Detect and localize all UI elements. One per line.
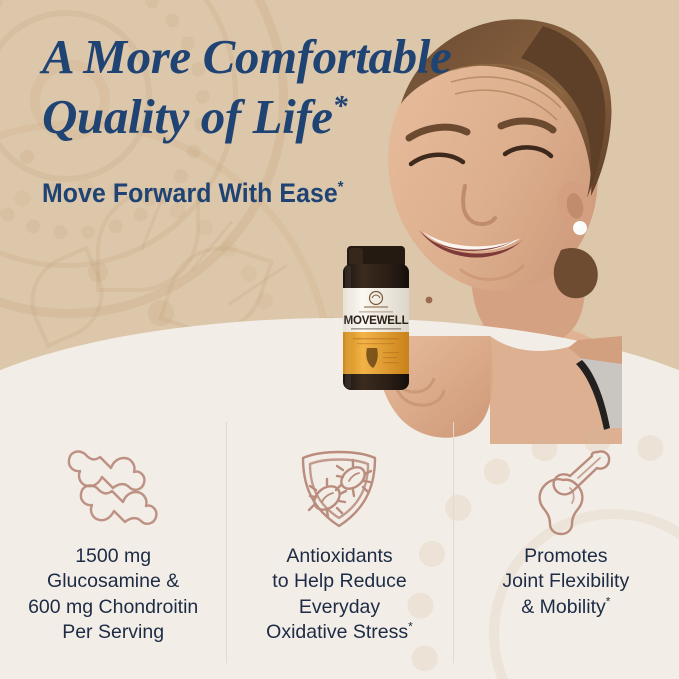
feature-line: Per Serving <box>28 620 198 645</box>
feature-asterisk: * <box>606 594 611 608</box>
headline-asterisk: * <box>333 90 348 123</box>
feature-column-glucosamine: 1500 mg Glucosamine & 600 mg Chondroitin… <box>0 418 226 679</box>
feature-line: Antioxidants <box>266 544 413 569</box>
hip-joint-icon <box>514 436 618 540</box>
subtitle: Move Forward With Ease* <box>42 178 344 209</box>
feature-line: Joint Flexibility <box>502 569 629 594</box>
feature-text-glucosamine: 1500 mg Glucosamine & 600 mg Chondroitin… <box>22 544 204 645</box>
feature-text-mobility: Promotes Joint Flexibility & Mobility* <box>496 544 635 620</box>
features-section: 1500 mg Glucosamine & 600 mg Chondroitin… <box>0 418 679 679</box>
feature-line: 1500 mg <box>28 544 198 569</box>
feature-line: Everyday <box>266 595 413 620</box>
feature-asterisk: * <box>408 620 413 634</box>
product-bottle: MOVEWELL <box>331 244 423 392</box>
feature-text-antioxidants: Antioxidants to Help Reduce Everyday Oxi… <box>260 544 419 645</box>
page-title: A More Comfortable Quality of Life* <box>42 27 562 148</box>
feature-line-text: & Mobility <box>521 596 606 618</box>
feature-line: 600 mg Chondroitin <box>28 595 198 620</box>
feature-line: Oxidative Stress* <box>266 620 413 645</box>
feature-line: to Help Reduce <box>266 569 413 594</box>
joint-bones-icon <box>61 436 165 540</box>
shield-germs-icon <box>287 436 391 540</box>
headline-line-2: Quality of Life* <box>42 87 562 147</box>
feature-column-mobility: Promotes Joint Flexibility & Mobility* <box>453 418 679 679</box>
svg-text:MOVEWELL: MOVEWELL <box>344 315 409 327</box>
feature-line: Glucosamine & <box>28 569 198 594</box>
subtitle-asterisk: * <box>338 179 344 196</box>
product-marketing-image: A More Comfortable Quality of Life* Move… <box>0 0 679 679</box>
headline-line-1: A More Comfortable <box>42 27 562 87</box>
feature-line: & Mobility* <box>502 595 629 620</box>
subtitle-text: Move Forward With Ease <box>42 178 338 208</box>
headline-line-2-text: Quality of Life <box>42 89 333 144</box>
feature-line-text: Oxidative Stress <box>266 621 408 643</box>
feature-column-antioxidants: Antioxidants to Help Reduce Everyday Oxi… <box>226 418 452 679</box>
feature-line: Promotes <box>502 544 629 569</box>
